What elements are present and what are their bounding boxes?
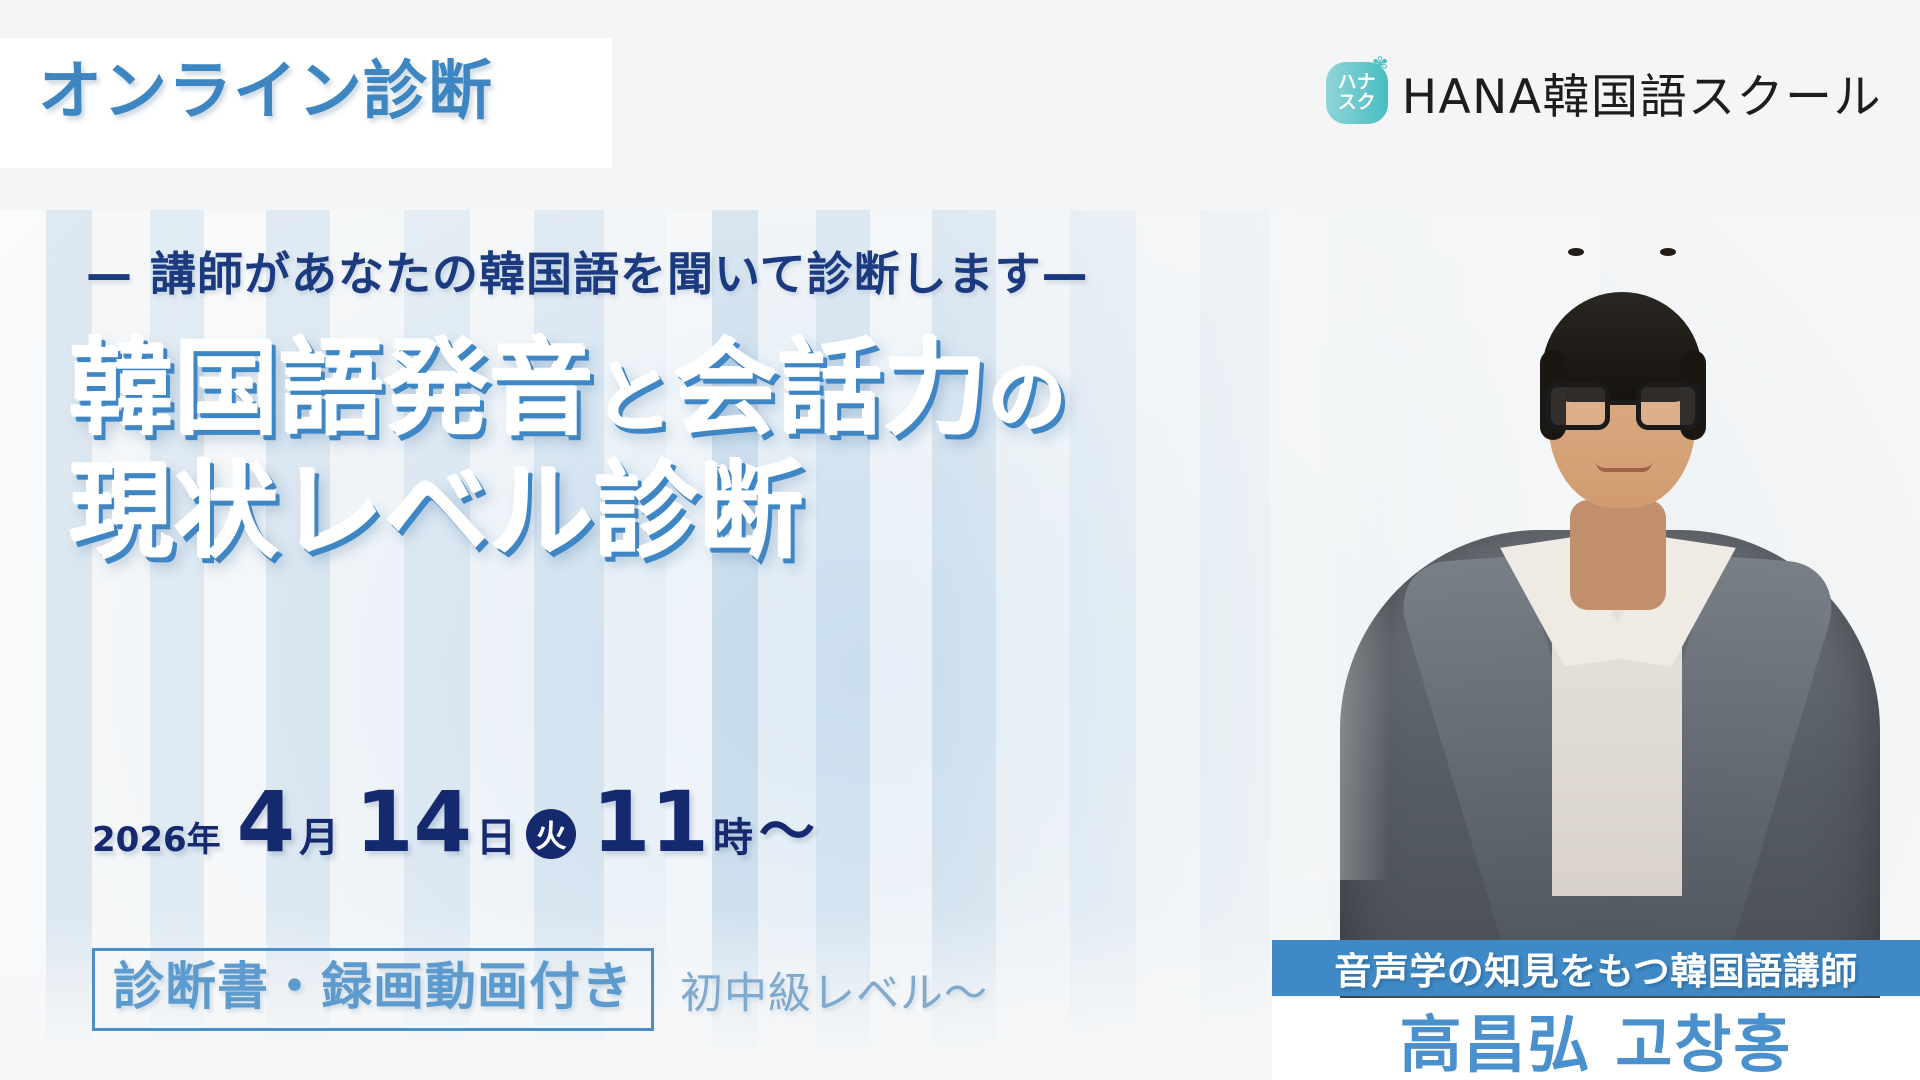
date-month-unit: 月 [299, 805, 339, 863]
level-note: 初中級レベル〜 [680, 959, 988, 1021]
promo-banner: オンライン診断 ✾ ハナ スク HANA韓国語スクール — 講師があなたの韓国語… [0, 0, 1920, 1080]
online-diagnosis-tag-label: オンライン診断 [38, 60, 493, 124]
portrait-eye-left [1568, 248, 1584, 256]
instructor-name: 高昌弘 고창홍 [1272, 998, 1920, 1080]
event-date-row: 2026年 4 月 14 日 火 11 時 〜 [92, 780, 815, 868]
portrait-left-fade [1280, 0, 1390, 880]
date-weekday-badge: 火 [526, 809, 576, 859]
headline-segment-d: の [989, 354, 1068, 444]
date-tilde: 〜 [759, 787, 815, 868]
portrait-neck [1570, 500, 1666, 610]
included-items-badge: 診断書・録画動画付き [92, 948, 654, 1031]
date-day-unit: 日 [476, 805, 516, 863]
glasses-lens-right [1636, 382, 1700, 430]
date-year: 2026年 [92, 812, 221, 861]
portrait-mouth [1596, 462, 1652, 472]
headline-block: 韓国語発音と会話力の 現状レベル診断 [70, 328, 1190, 573]
portrait-eye-right [1660, 248, 1676, 256]
glasses-icon [1546, 382, 1700, 432]
glasses-lens-left [1546, 382, 1610, 430]
instructor-caption-bar: 音声学の知見をもつ韓国語講師 [1272, 940, 1920, 996]
headline-segment-b: と [595, 354, 674, 444]
date-month: 4 [237, 780, 295, 864]
date-hour: 11 [592, 780, 709, 864]
headline-segment-c: 会話力 [674, 328, 989, 450]
subtitle-text: — 講師があなたの韓国語を聞いて診断します— [86, 238, 1089, 304]
glasses-bridge [1610, 400, 1636, 405]
headline-line-1: 韓国語発音と会話力の [70, 328, 1190, 451]
date-hour-unit: 時 [713, 805, 753, 863]
headline-segment-a: 韓国語発音 [70, 328, 595, 450]
headline-line-2: 現状レベル診断 [70, 451, 1190, 574]
date-day: 14 [355, 780, 472, 864]
badge-row: 診断書・録画動画付き 初中級レベル〜 [92, 948, 988, 1031]
instructor-portrait [1280, 0, 1920, 1080]
